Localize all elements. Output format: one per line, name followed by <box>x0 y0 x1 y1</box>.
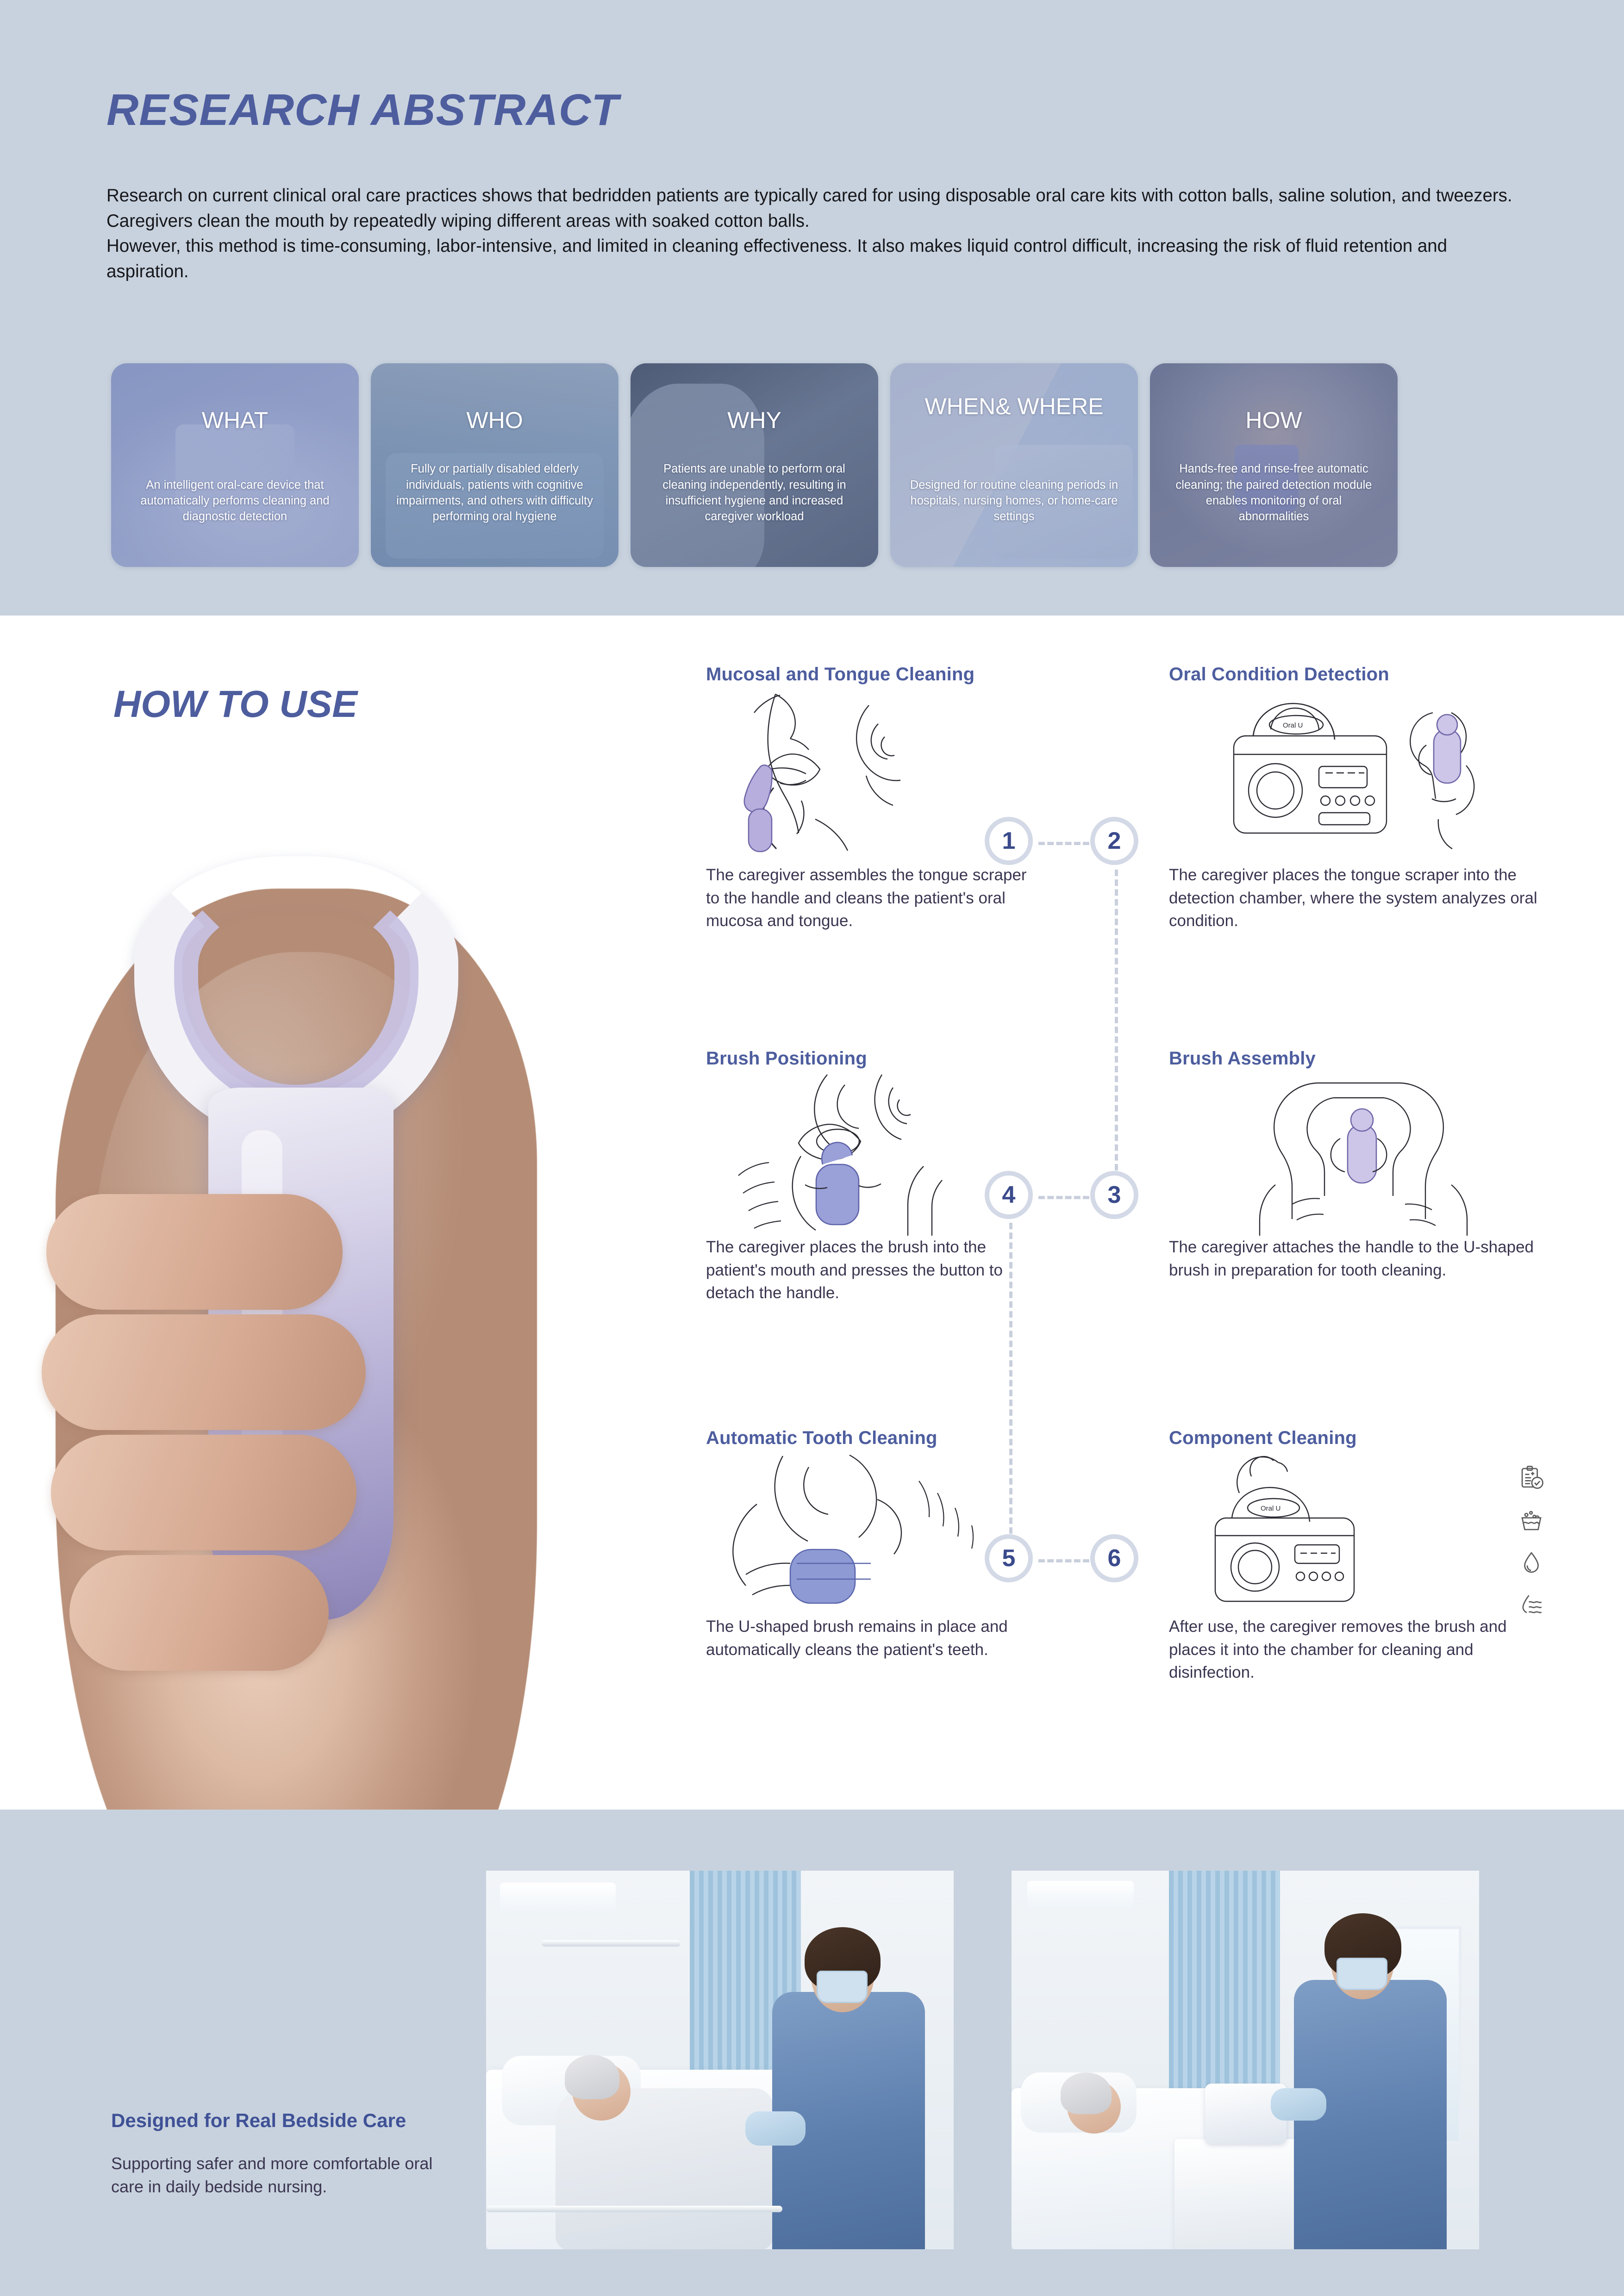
connector-5-6 <box>1038 1559 1089 1562</box>
step-illustration-brush-assembly <box>1169 1069 1558 1236</box>
step-card-1: Mucosal and Tongue Cleaning <box>655 664 1044 933</box>
fact-card-heading: HOW <box>1245 408 1302 433</box>
how-to-use-section: HOW TO USE Mucosal and Tongue Cleaning <box>0 616 1624 1810</box>
face-mask <box>1337 1958 1387 1990</box>
patient-hair <box>1061 2072 1112 2114</box>
fact-card-description: Patients are unable to perform oral clea… <box>650 461 859 524</box>
fact-card-how: HOW Hands-free and rinse-free automatic … <box>1150 363 1398 567</box>
step-card-5: Automatic Tooth Cleaning <box>655 1428 1044 1661</box>
wall-rail <box>542 1940 681 1947</box>
step-illustration-tongue-cleaning <box>655 685 1044 856</box>
step-description: The U-shaped brush remains in place and … <box>706 1615 1044 1661</box>
fact-card-description: Hands-free and rinse-free automatic clea… <box>1169 461 1378 524</box>
face-mask <box>817 1971 868 2003</box>
step-description: The caregiver places the brush into the … <box>706 1236 1044 1305</box>
finger <box>46 1194 343 1310</box>
fact-card-description: Designed for routine cleaning periods in… <box>910 477 1118 524</box>
ceiling-light <box>500 1883 616 1913</box>
fact-card-why: WHY Patients are unable to perform oral … <box>631 363 878 567</box>
bedside-care-section: Designed for Real Bedside Care Supportin… <box>0 1810 1624 2296</box>
finger <box>51 1435 356 1550</box>
drop-waves-icon <box>1518 1592 1545 1619</box>
fact-card-who: WHO Fully or partially disabled elderly … <box>371 363 618 567</box>
step-number-2[interactable]: 2 <box>1090 817 1138 865</box>
step-description: After use, the caregiver removes the bru… <box>1169 1615 1558 1684</box>
step-illustration-detection-chamber: Oral U <box>1169 685 1558 856</box>
page-title: RESEARCH ABSTRACT <box>106 88 1518 132</box>
hero-product-photo <box>0 768 630 1953</box>
nurse-glove <box>1271 2088 1326 2121</box>
fact-cards-row: WHAT An intelligent oral-care device tha… <box>111 363 1398 567</box>
device-brand-label: Oral U <box>1261 1505 1280 1512</box>
step-title: Mucosal and Tongue Cleaning <box>706 664 1044 685</box>
bedside-title: Designed for Real Bedside Care <box>111 2109 406 2132</box>
step-illustration-component-cleaning: Oral U <box>1169 1449 1558 1615</box>
poster-root: RESEARCH ABSTRACT Research on current cl… <box>0 0 1624 2296</box>
step-illustration-automatic-cleaning <box>655 1449 1044 1615</box>
step-description: The caregiver attaches the handle to the… <box>1169 1236 1558 1282</box>
patient-hair <box>565 2055 619 2099</box>
finger <box>42 1314 366 1430</box>
cleaning-icon-column <box>1518 1464 1545 1619</box>
connector-1-2 <box>1038 842 1089 845</box>
clipboard-check-icon <box>1518 1464 1545 1491</box>
step-description: The caregiver places the tongue scraper … <box>1169 864 1558 933</box>
bedside-cabinet <box>1174 2139 1313 2249</box>
fact-card-what: WHAT An intelligent oral-care device tha… <box>111 363 359 567</box>
fact-card-when-where: WHEN& WHERE Designed for routine cleanin… <box>890 363 1138 567</box>
bedside-photo-left <box>486 1871 954 2249</box>
fact-card-heading: WHY <box>727 408 781 433</box>
fact-card-heading: WHAT <box>202 408 268 433</box>
step-title: Component Cleaning <box>1169 1428 1558 1449</box>
step-title: Brush Positioning <box>706 1048 1044 1069</box>
abstract-paragraph-3: However, this method is time-consuming, … <box>106 234 1518 284</box>
finger <box>69 1555 329 1671</box>
water-drop-icon <box>1518 1549 1545 1576</box>
step-illustration-brush-positioning <box>655 1069 1044 1236</box>
step-card-4: Brush Positioning <box>655 1048 1044 1305</box>
bed-side-rail <box>486 2206 782 2212</box>
step-title: Brush Assembly <box>1169 1048 1558 1069</box>
wash-basin-icon <box>1518 1507 1545 1534</box>
steps-flow: Mucosal and Tongue Cleaning <box>655 664 1586 1789</box>
svg-text:Oral U: Oral U <box>1283 722 1303 729</box>
step-card-3: Brush Assembly <box>1169 1048 1558 1282</box>
connector-2-3 <box>1115 870 1118 1170</box>
step-title: Automatic Tooth Cleaning <box>706 1428 1044 1449</box>
step-number-6[interactable]: 6 <box>1090 1534 1138 1582</box>
step-card-6: Component Cleaning Oral U <box>1169 1428 1558 1684</box>
fact-card-heading: WHO <box>466 408 523 433</box>
section-title-how-to-use: HOW TO USE <box>113 683 357 726</box>
abstract-paragraph-1: Research on current clinical oral care p… <box>106 183 1518 209</box>
abstract-body: Research on current clinical oral care p… <box>106 183 1518 285</box>
fact-card-description: An intelligent oral-care device that aut… <box>131 477 339 524</box>
step-card-2: Oral Condition Detection <box>1169 664 1558 933</box>
step-title: Oral Condition Detection <box>1169 664 1558 685</box>
fact-card-description: Fully or partially disabled elderly indi… <box>390 461 599 524</box>
abstract-paragraph-2: Caregivers clean the mouth by repeatedly… <box>106 209 1518 234</box>
bedside-description: Supporting safer and more comfortable or… <box>111 2152 435 2199</box>
connector-3-4 <box>1038 1196 1089 1199</box>
bedside-photo-right <box>1012 1871 1479 2249</box>
card-tint-overlay <box>111 363 359 567</box>
step-description: The caregiver assembles the tongue scrap… <box>706 864 1044 933</box>
ceiling-light <box>1027 1881 1134 1909</box>
fingers-group <box>28 1176 444 1722</box>
step-number-3[interactable]: 3 <box>1090 1171 1138 1219</box>
nurse-glove <box>745 2111 806 2146</box>
fact-card-heading: WHEN& WHERE <box>924 394 1103 419</box>
